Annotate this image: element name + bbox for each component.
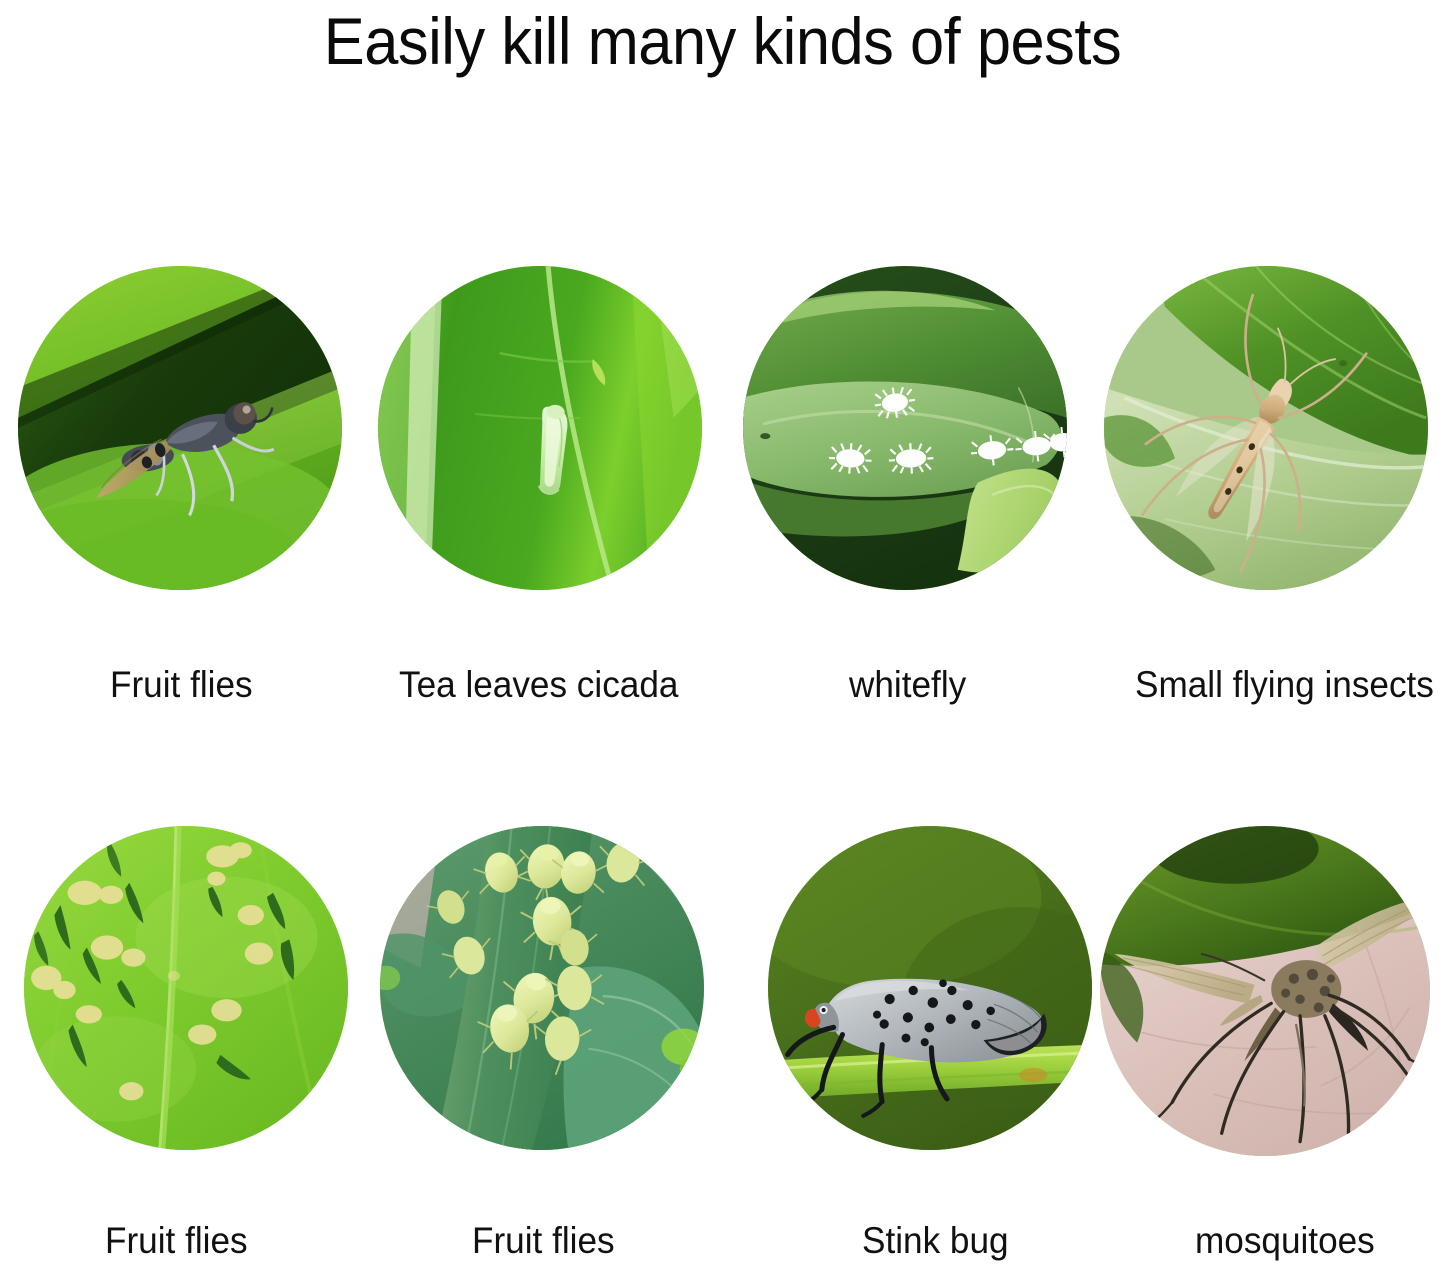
pest-photo-fruit-flies-1	[18, 266, 342, 590]
pest-label-small-flying-insects: Small flying insects	[1135, 665, 1434, 705]
pest-label-stink-bug: Stink bug	[862, 1221, 1009, 1261]
pest-label-mosquitoes: mosquitoes	[1195, 1221, 1375, 1261]
pest-photo-fruit-flies-2	[24, 826, 348, 1150]
pest-photo-tea-leaves-cicada	[378, 266, 702, 590]
pest-label-fruit-flies-3: Fruit flies	[472, 1221, 615, 1261]
pest-label-whitefly: whitefly	[849, 665, 966, 705]
pest-photo-stink-bug	[768, 826, 1092, 1150]
pest-photo-fruit-flies-3	[380, 826, 704, 1150]
mosquito-photo	[1100, 826, 1430, 1156]
pest-label-tea-leaves-cicada: Tea leaves cicada	[399, 665, 678, 705]
aphid-photo	[380, 826, 704, 1150]
pest-label-fruit-flies-1: Fruit flies	[110, 665, 253, 705]
cicada-photo	[378, 266, 702, 590]
pest-photo-mosquitoes	[1100, 826, 1430, 1156]
pest-photo-small-flying-insects	[1104, 266, 1428, 590]
pest-label-fruit-flies-2: Fruit flies	[105, 1221, 248, 1261]
pest-photo-whitefly	[743, 266, 1067, 590]
fruit-fly-photo-2	[24, 826, 348, 1150]
midge-photo	[1104, 266, 1428, 590]
fruit-fly-photo-1	[18, 266, 342, 590]
whitefly-photo	[743, 266, 1067, 590]
stink-bug-photo	[768, 826, 1092, 1150]
pest-grid: Fruit flies	[0, 0, 1445, 1271]
